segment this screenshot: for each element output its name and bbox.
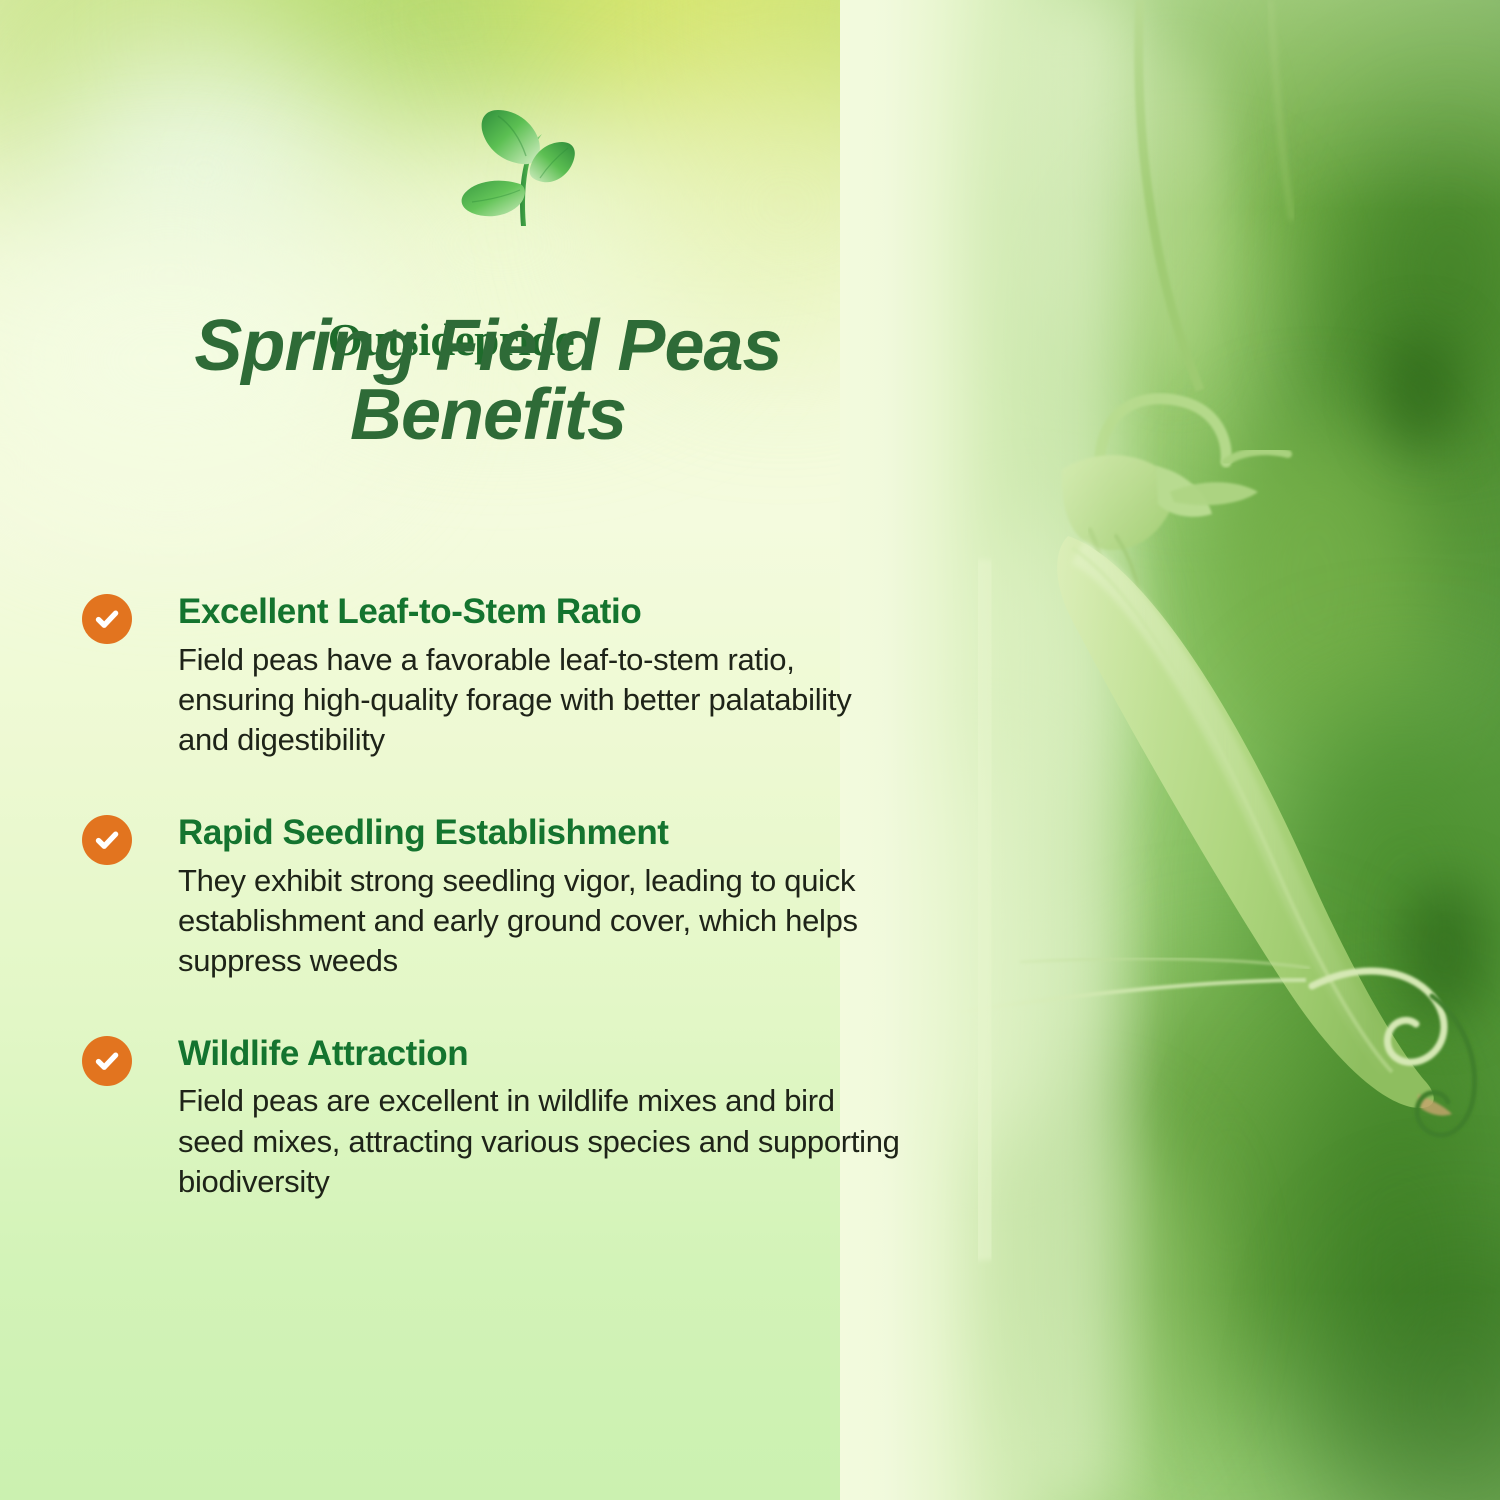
- benefit-item: Wildlife Attraction Field peas are excel…: [82, 1034, 912, 1203]
- page-title: Spring Field Peas Benefits: [128, 312, 848, 450]
- benefit-description: They exhibit strong seedling vigor, lead…: [178, 861, 908, 982]
- page-title-line2: Benefits: [128, 381, 848, 450]
- check-circle-icon: [82, 594, 132, 644]
- brand-logo[interactable]: Outsidepride: [286, 108, 616, 278]
- check-circle-icon: [82, 815, 132, 865]
- benefit-title: Wildlife Attraction: [178, 1034, 912, 1074]
- benefits-list: Excellent Leaf-to-Stem Ratio Field peas …: [82, 592, 912, 1202]
- benefit-title: Excellent Leaf-to-Stem Ratio: [178, 592, 912, 632]
- check-circle-icon: [82, 1036, 132, 1086]
- benefit-item: Excellent Leaf-to-Stem Ratio Field peas …: [82, 592, 912, 761]
- content-column: Outsidepride Spring Field Peas Benefits …: [0, 0, 960, 1500]
- benefit-description: Field peas are excellent in wildlife mix…: [178, 1081, 908, 1202]
- benefit-description: Field peas have a favorable leaf-to-stem…: [178, 640, 908, 761]
- benefit-item: Rapid Seedling Establishment They exhibi…: [82, 813, 912, 982]
- page-title-line1: Spring Field Peas: [194, 306, 781, 386]
- benefit-title: Rapid Seedling Establishment: [178, 813, 912, 853]
- leaf-sprout-icon: [446, 108, 586, 226]
- infographic-canvas: Outsidepride Spring Field Peas Benefits …: [0, 0, 1500, 1500]
